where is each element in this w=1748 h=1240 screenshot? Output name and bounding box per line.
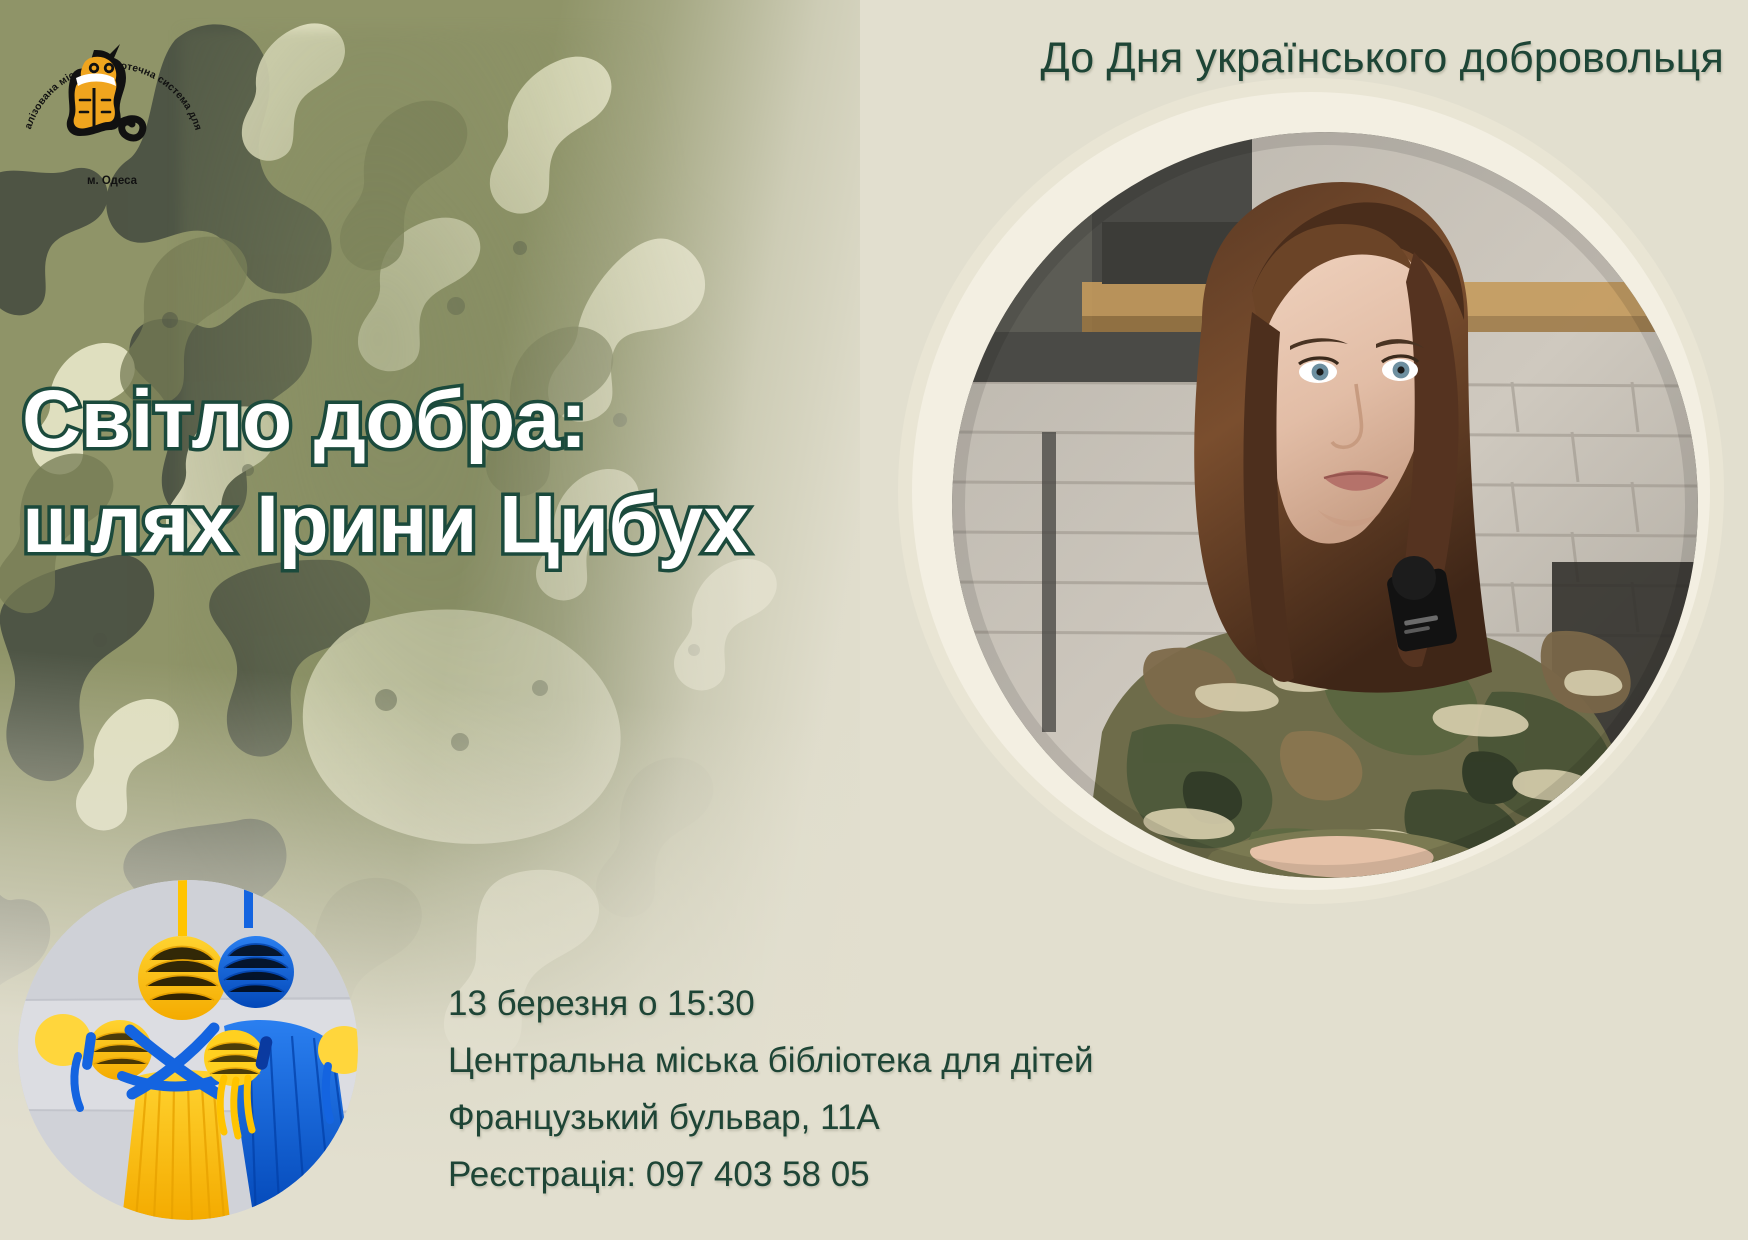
event-registration-phone: Реєстрація: 097 403 58 05 [448,1146,1094,1203]
portrait-inner-ring [912,92,1710,890]
library-cat-logo: Централізована міська бібліотечна систем… [10,4,215,194]
portrait-outer-ring [898,78,1724,904]
title-line-2: шлях Ірини Цибух [22,473,749,578]
event-venue: Центральна міська бібліотека для дітей [448,1032,1094,1089]
event-address: Французький бульвар, 11А [448,1089,1094,1146]
title-line-1: Світло добра: [22,368,749,473]
cat-icon [67,44,143,138]
portrait-photo [952,132,1698,878]
header-eyebrow: До Дня українського добровольця [1040,34,1724,83]
event-date-time: 13 березня о 15:30 [448,975,1094,1032]
poster-canvas: Централізована міська бібліотечна систем… [0,0,1748,1240]
page-title: Світло добра: шлях Ірини Цибух [22,368,749,578]
logo-city-text: м. Одеса [87,175,138,187]
yarn-dolls-photo [18,880,358,1220]
event-details: 13 березня о 15:30 Центральна міська біб… [448,975,1094,1203]
